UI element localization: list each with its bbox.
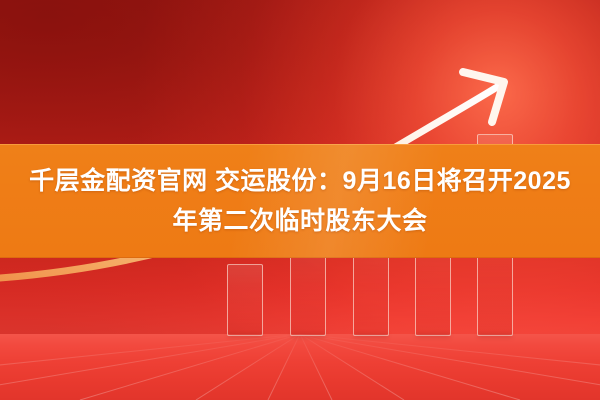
headline-band: 千层金配资官网 交运股份：9月16日将召开2025年第二次临时股东大会 (0, 144, 600, 258)
banner-image: 千层金配资官网 交运股份：9月16日将召开2025年第二次临时股东大会 (0, 0, 600, 400)
page-title: 千层金配资官网 交运股份：9月16日将召开2025年第二次临时股东大会 (20, 161, 580, 241)
band-bottom-edge (0, 257, 600, 258)
band-top-edge (0, 144, 600, 145)
